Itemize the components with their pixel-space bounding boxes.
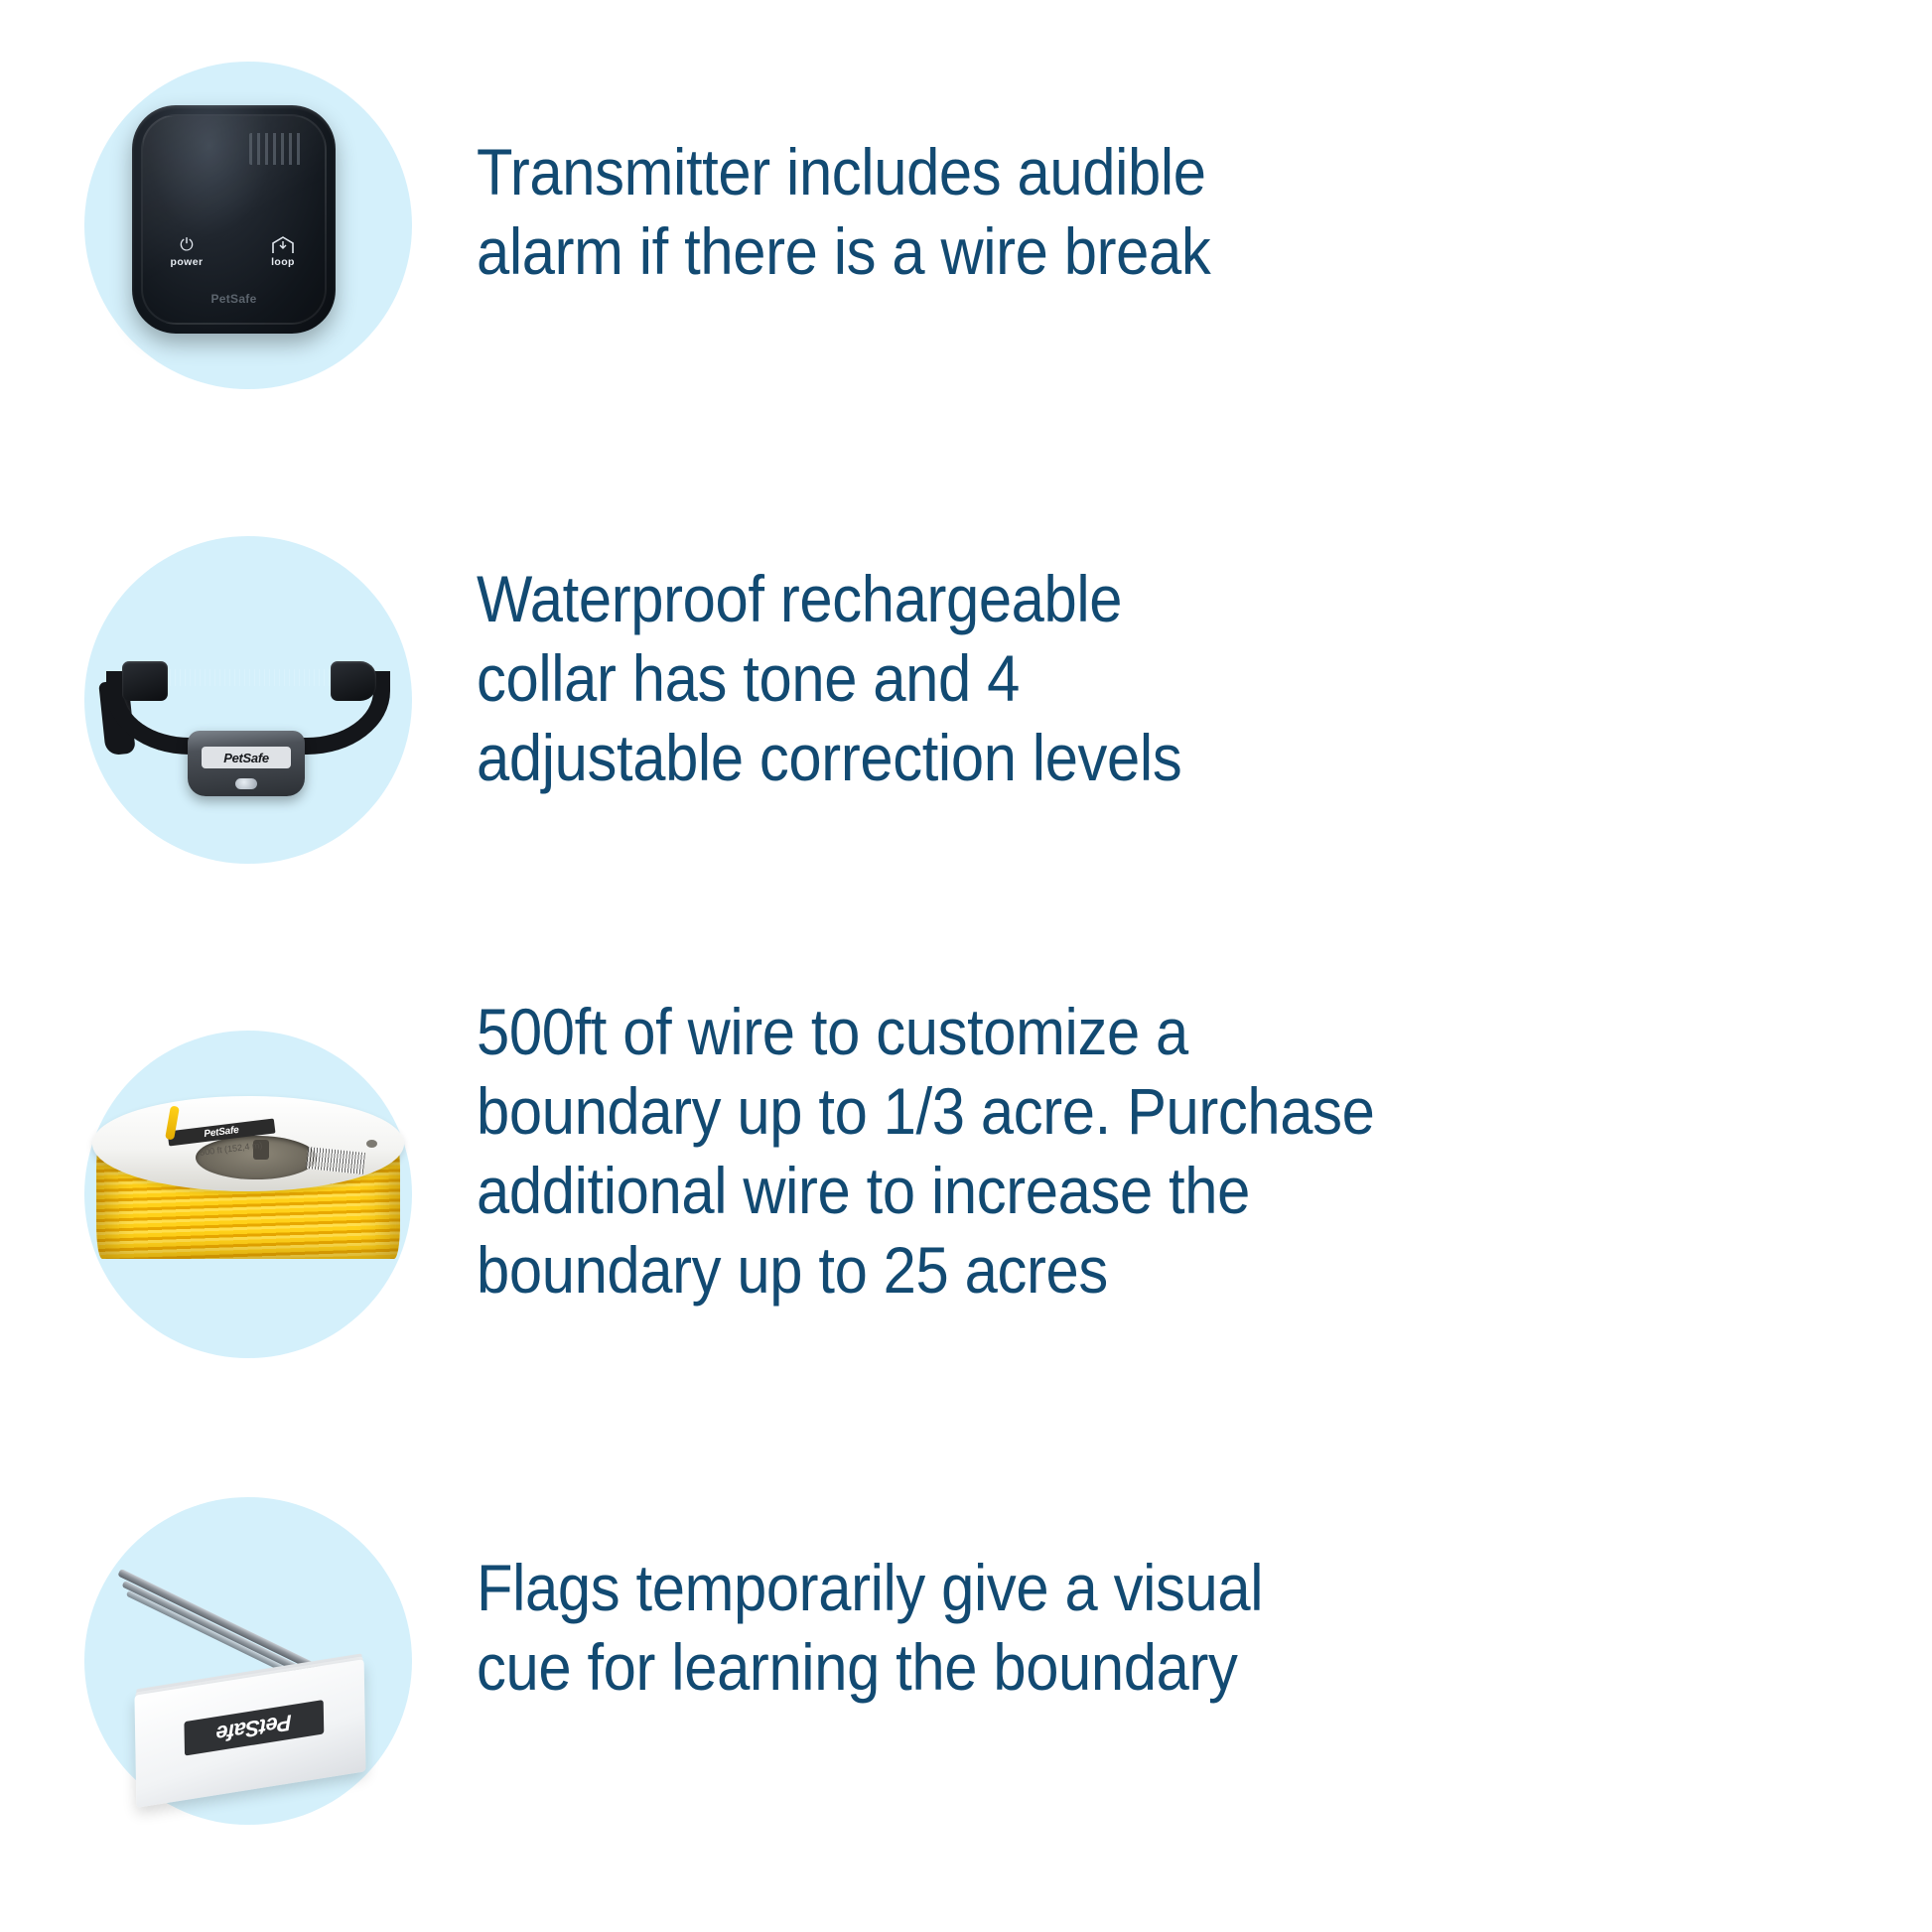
collar-buckle-right: [331, 661, 376, 701]
transmitter-body: ⏻ power loop: [132, 105, 336, 334]
power-icon: ⏻: [158, 234, 215, 256]
text-column: Transmitter includes audible alarm if th…: [477, 40, 1932, 292]
spool-vent-hole: [366, 1140, 377, 1148]
brand-wordmark: PetSafe: [202, 747, 291, 768]
receiver-unit: PetSafe: [188, 731, 305, 796]
receiver-collar-photo: PetSafe: [84, 635, 412, 824]
wire-spool-photo: PetSafe 500 ft (152,4 m): [84, 1070, 412, 1318]
status-led: [235, 778, 257, 789]
feature-text-transmitter: Transmitter includes audible alarm if th…: [477, 133, 1758, 292]
speaker-vent-icon: [249, 133, 305, 165]
collar-buckle-left: [122, 661, 168, 701]
feature-row-flags: PetSafe Flags temporarily give a visual …: [0, 1469, 1932, 1886]
text-column: Flags temporarily give a visual cue for …: [477, 1469, 1932, 1708]
feature-text-flags: Flags temporarily give a visual cue for …: [477, 1549, 1758, 1708]
media-column: ⏻ power loop: [0, 40, 477, 437]
boundary-flags-photo: PetSafe: [84, 1529, 412, 1797]
media-column: PetSafe: [0, 516, 477, 913]
media-column: PetSafe: [0, 1469, 477, 1886]
feature-text-wire: 500ft of wire to customize a boundary up…: [477, 993, 1758, 1310]
text-column: Waterproof rechargeable collar has tone …: [477, 516, 1932, 798]
loop-label: loop: [254, 256, 312, 268]
feature-row-transmitter: ⏻ power loop: [0, 40, 1932, 437]
brand-wordmark: PetSafe: [132, 292, 336, 306]
feature-row-collar: PetSafe Waterproof rechargeable collar h…: [0, 516, 1932, 913]
power-indicator: ⏻ power: [158, 234, 215, 268]
loop-indicator: loop: [254, 234, 312, 268]
media-column: PetSafe 500 ft (152,4 m): [0, 993, 477, 1430]
loop-icon: [254, 234, 312, 256]
feature-infographic: ⏻ power loop: [0, 0, 1932, 1932]
feature-text-collar: Waterproof rechargeable collar has tone …: [477, 560, 1758, 798]
brand-wordmark: PetSafe: [184, 1700, 324, 1756]
power-label: power: [158, 256, 215, 268]
feature-row-wire: PetSafe 500 ft (152,4 m) 500ft of wire t…: [0, 993, 1932, 1430]
barcode-icon: [306, 1147, 365, 1174]
text-column: 500ft of wire to customize a boundary up…: [477, 993, 1932, 1310]
flag-stack: PetSafe: [134, 1659, 365, 1808]
spool-top-flange: PetSafe 500 ft (152,4 m): [92, 1096, 404, 1191]
transmitter-indicators: ⏻ power loop: [158, 234, 312, 268]
transmitter-photo: ⏻ power loop: [84, 68, 412, 395]
